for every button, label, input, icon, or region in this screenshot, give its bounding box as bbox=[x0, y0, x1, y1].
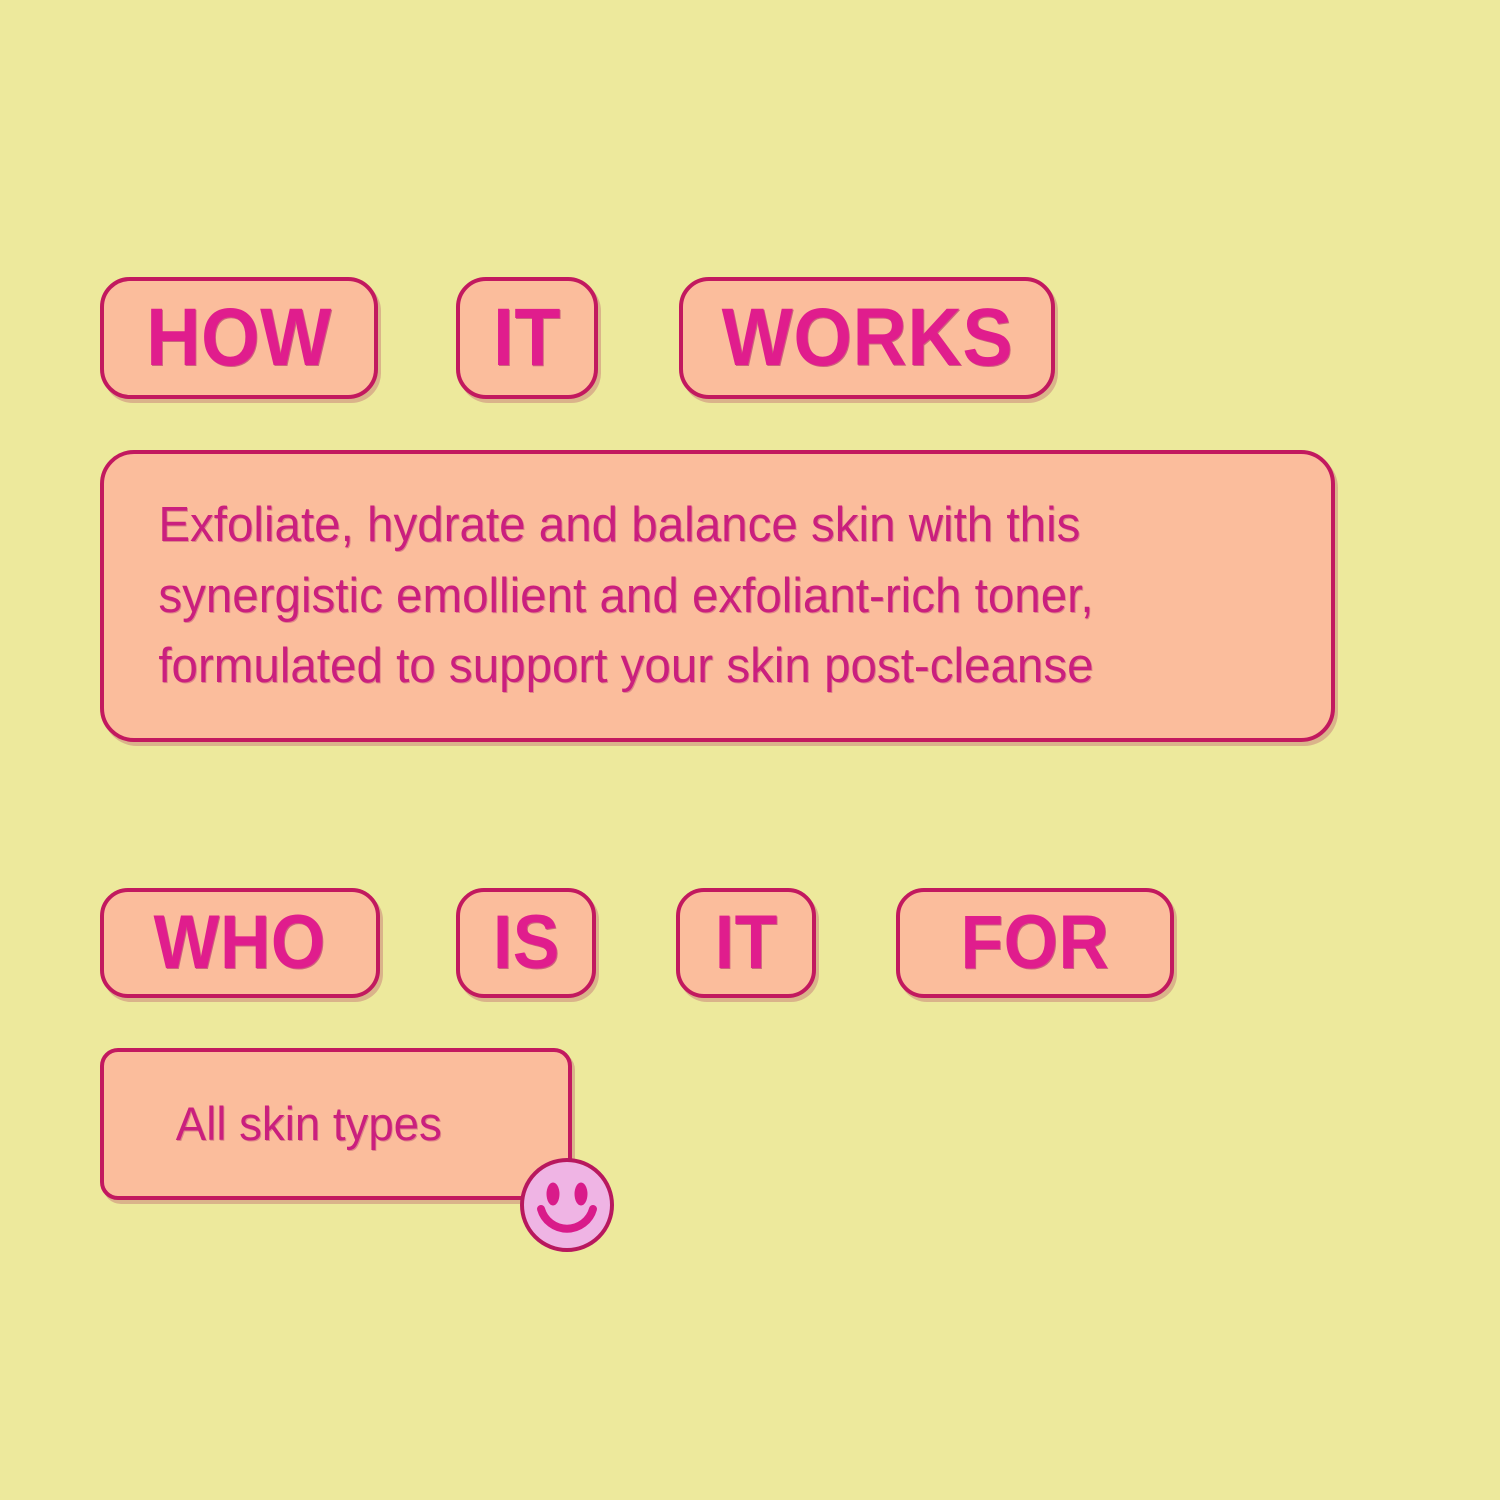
audience-text: All skin types bbox=[104, 1096, 442, 1152]
description-line-1: Exfoliate, hydrate and balance skin with… bbox=[158, 490, 1093, 561]
heading-chip-it-second-label: IT bbox=[714, 905, 777, 981]
heading-chip-how: HOW bbox=[100, 277, 378, 399]
heading-chip-how-label: HOW bbox=[146, 297, 332, 379]
heading-chip-who-label: WHO bbox=[154, 905, 326, 981]
how-it-works-description-panel: Exfoliate, hydrate and balance skin with… bbox=[100, 450, 1335, 742]
heading-chip-works: WORKS bbox=[679, 277, 1055, 399]
audience-panel: All skin types bbox=[100, 1048, 572, 1200]
description-line-3: formulated to support your skin post-cle… bbox=[158, 631, 1093, 702]
heading-chip-is-label: IS bbox=[493, 905, 560, 981]
heading-chip-who: WHO bbox=[100, 888, 380, 998]
smiley-face-icon bbox=[519, 1157, 615, 1253]
promo-graphic-canvas: HOW IT WORKS Exfoliate, hydrate and bala… bbox=[0, 0, 1500, 1500]
heading-chip-for: FOR bbox=[896, 888, 1174, 998]
heading-chip-it-first-label: IT bbox=[493, 297, 561, 379]
heading-chip-for-label: FOR bbox=[961, 905, 1110, 981]
heading-chip-is: IS bbox=[456, 888, 596, 998]
heading-chip-it-first: IT bbox=[456, 277, 598, 399]
heading-chip-it-second: IT bbox=[676, 888, 816, 998]
how-it-works-description-text: Exfoliate, hydrate and balance skin with… bbox=[104, 490, 1148, 702]
heading-chip-works-label: WORKS bbox=[721, 297, 1012, 379]
description-line-2: synergistic emollient and exfoliant-rich… bbox=[158, 561, 1093, 632]
